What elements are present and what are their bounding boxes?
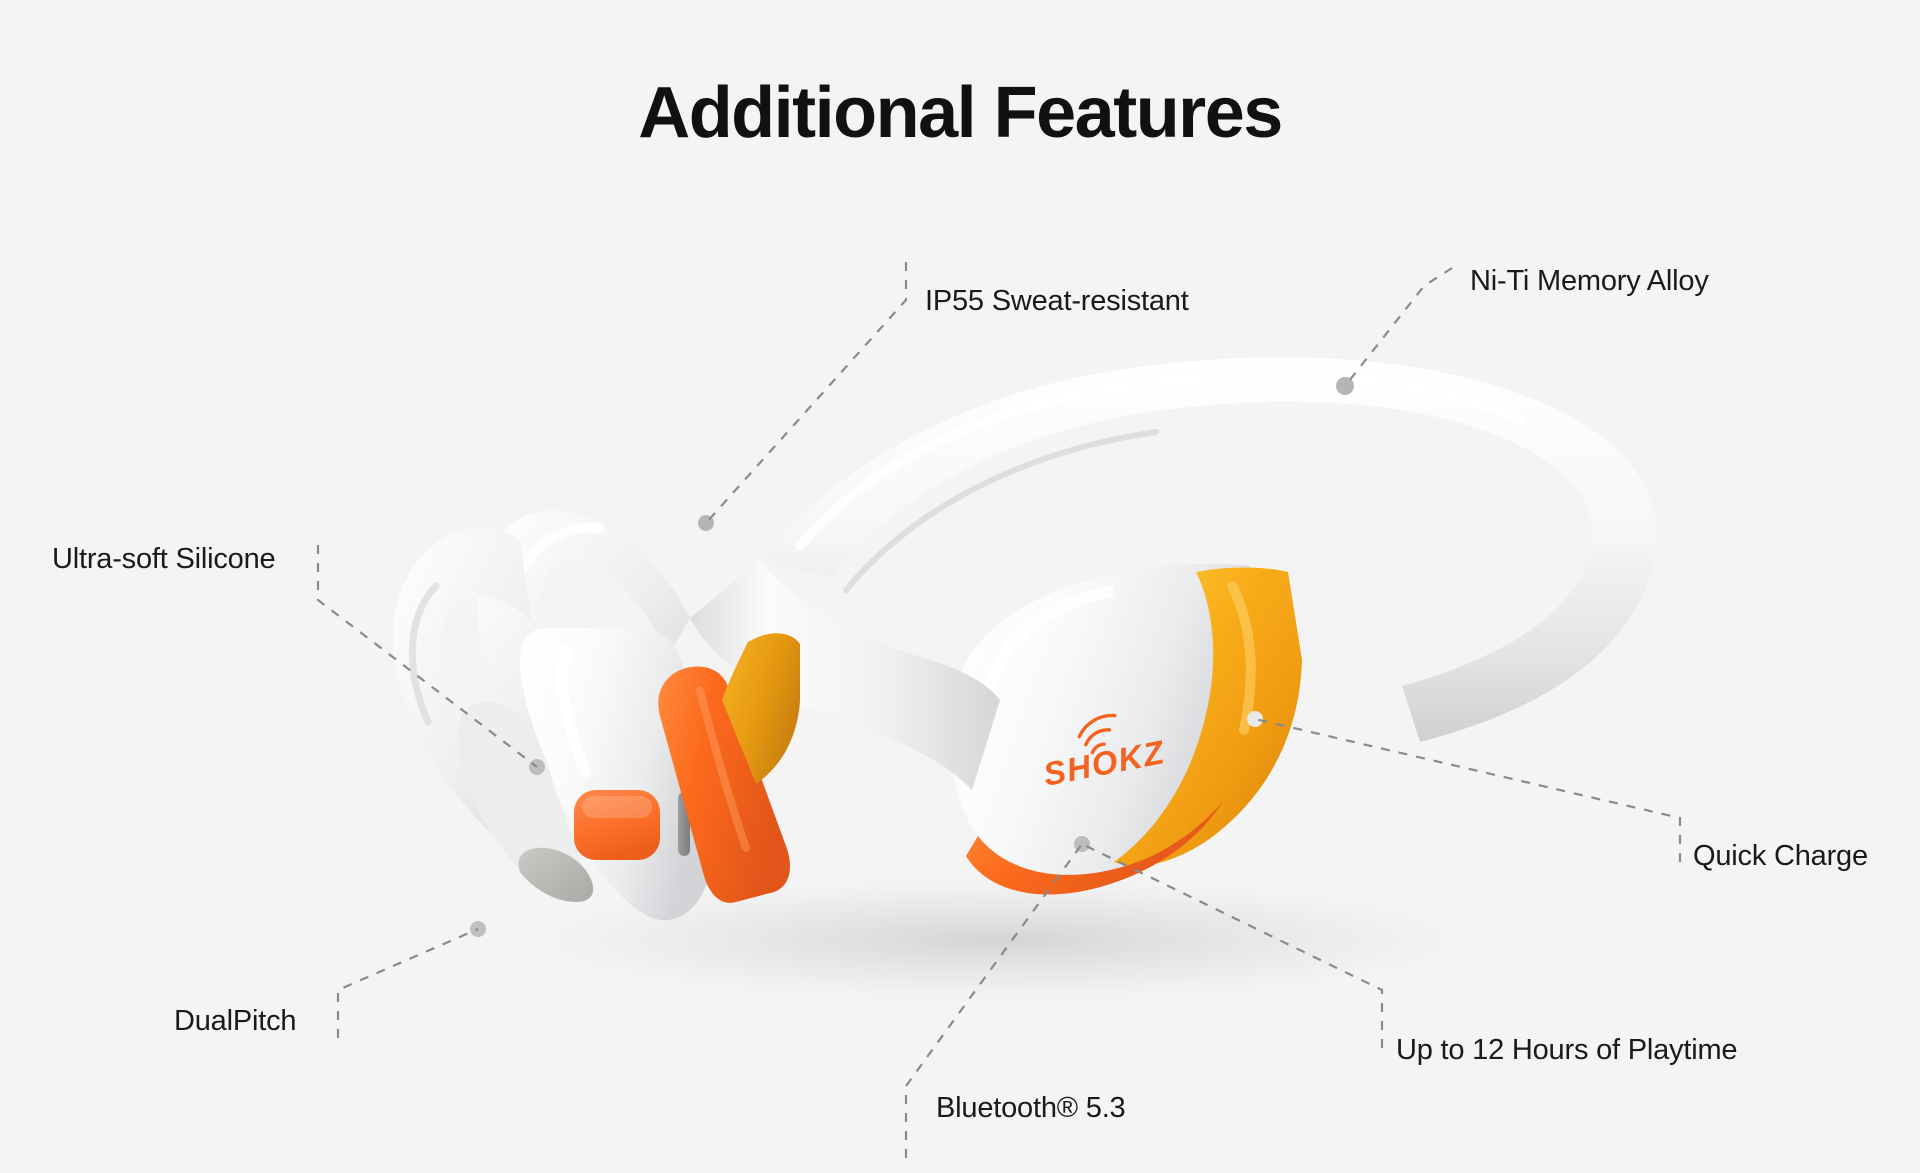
leader-lines-layer (0, 0, 1920, 1173)
leader-line-playtime (1082, 844, 1382, 1048)
leader-line-niti (1345, 268, 1452, 386)
additional-features-page: Additional Features (0, 0, 1920, 1173)
leader-line-bluetooth (906, 844, 1082, 1158)
leader-line-quick (1255, 719, 1680, 862)
leader-line-dualpitch (338, 929, 478, 1038)
leader-line-ip55 (706, 262, 906, 523)
leader-line-silicone (318, 545, 537, 767)
